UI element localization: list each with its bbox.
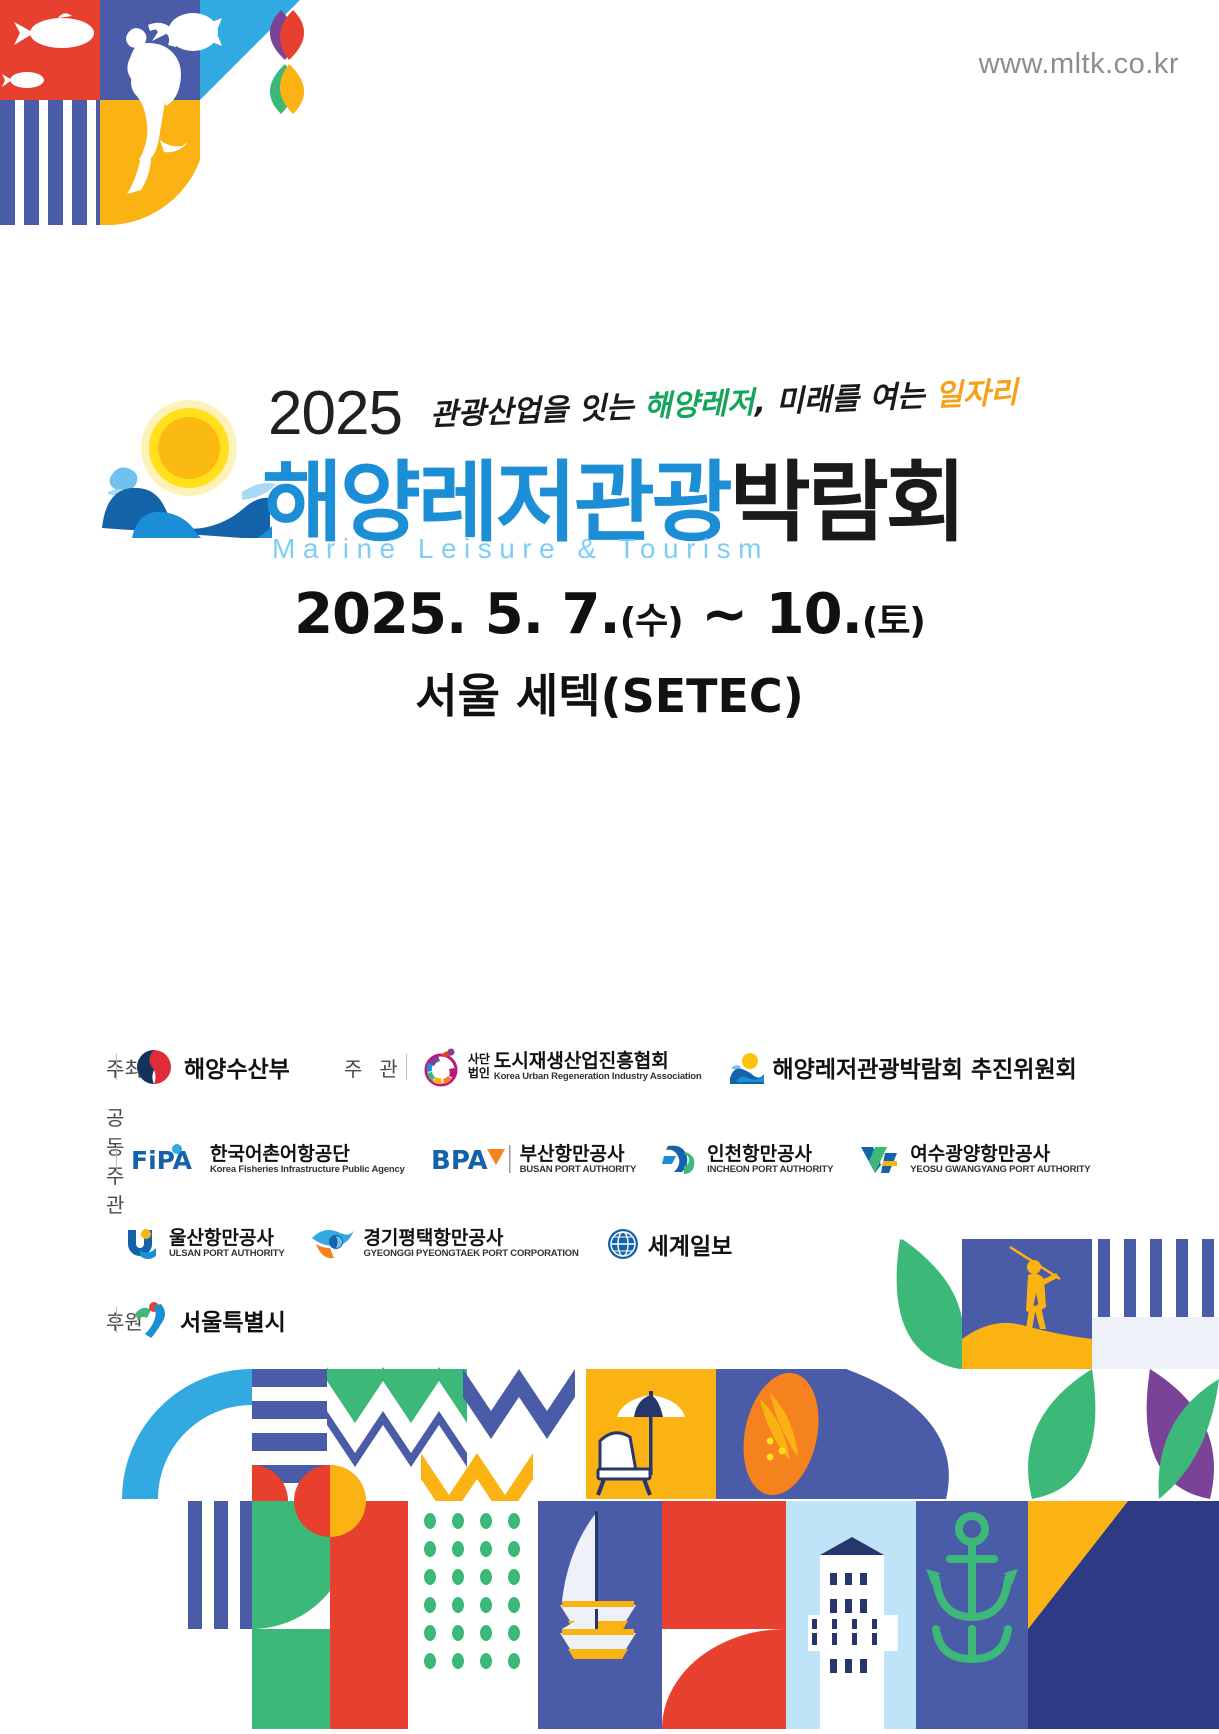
- ipa-icon: [662, 1142, 700, 1178]
- sun-wave-logo-icon: [92, 388, 282, 538]
- divider: [116, 1147, 117, 1173]
- org-name-en-ipa: INCHEON PORT AUTHORITY: [707, 1165, 833, 1175]
- date-dow-end: (토): [862, 601, 925, 642]
- org-item-bpa: BPA 부산항만공사 BUSAN PORT AUTHORITY: [431, 1143, 637, 1177]
- navy-zigzag-tile: [327, 1411, 467, 1467]
- org-item-mltk-committee: 해양레저관광박람회 추진위원회: [728, 1050, 1077, 1084]
- host-items: 해양수산부: [131, 1047, 290, 1087]
- date-dow-start: (수): [620, 601, 683, 642]
- navy-stripe-tile: [188, 1501, 254, 1629]
- org-item-ipa: 인천항만공사 INCHEON PORT AUTHORITY: [662, 1142, 833, 1178]
- tagline-part-1: 관광산업을 잇는: [429, 390, 644, 433]
- green-leaf-tile: [1028, 1369, 1095, 1499]
- org-name-en-ygpa: YEOSU GWANGYANG PORT AUTHORITY: [910, 1165, 1090, 1175]
- subtitle-english: Marine Leisure & Tourism: [272, 533, 769, 565]
- fipa-icon: FiPA: [131, 1142, 203, 1178]
- org-item-ygpa: 여수광양항만공사 YEOSU GWANGYANG PORT AUTHORITY: [859, 1143, 1090, 1177]
- org-name-mltk-committee: 해양레저관광박람회 추진위원회: [773, 1050, 1077, 1084]
- org-name-kuria: 도시재생산업진흥협회: [494, 1052, 702, 1072]
- title-block: 2025 관광산업을 잇는 해양레저, 미래를 여는 일자리 해양레저관광박람회…: [0, 370, 1219, 555]
- tagline: 관광산업을 잇는 해양레저, 미래를 여는 일자리: [429, 367, 1018, 434]
- mltk-sunwave-icon: [728, 1050, 766, 1084]
- org-name-fipa: 한국어촌어항공단: [210, 1145, 405, 1165]
- tagline-part-2: 해양레저: [643, 386, 755, 425]
- sky-arc-tile: [122, 1369, 252, 1499]
- logo-row: 2025 관광산업을 잇는 해양레저, 미래를 여는 일자리 해양레저관광박람회…: [0, 370, 1219, 555]
- korea-gov-taegeuk-icon: [131, 1047, 177, 1087]
- event-venue: 서울 세텍(SETEC): [0, 660, 1219, 726]
- svg-text:BPA: BPA: [431, 1146, 488, 1176]
- label-organizer-char1: 주: [344, 1053, 362, 1082]
- org-name-mof: 해양수산부: [184, 1050, 290, 1084]
- coorganizer-items: FiPA 한국어촌어항공단 Korea Fisheries Infrastruc…: [131, 1142, 1090, 1178]
- event-date: 2025. 5. 7.(수) ~ 10.(토): [0, 582, 1219, 647]
- organizer-items: 사단법인 도시재생산업진흥협회 Korea Urban Regeneration…: [421, 1046, 1077, 1088]
- label-organizer: 주 관: [290, 1053, 398, 1082]
- org-stack-ygpa: 여수광양항만공사 YEOSU GWANGYANG PORT AUTHORITY: [910, 1145, 1090, 1175]
- org-name-ipa: 인천항만공사: [707, 1145, 833, 1165]
- label-coorganizer: 공동주관: [0, 1102, 108, 1218]
- divider: [116, 1054, 117, 1080]
- date-end: 10.: [766, 582, 862, 647]
- org-stack-bpa: 부산항만공사 BUSAN PORT AUTHORITY: [520, 1145, 637, 1175]
- date-tilde: ~: [701, 582, 747, 647]
- navy-stripe-tile: [252, 1369, 327, 1483]
- tagline-part-4: 일자리: [934, 375, 1018, 413]
- org-stack-kuria: 도시재생산업진흥협회 Korea Urban Regeneration Indu…: [494, 1052, 702, 1082]
- label-host: 주 최: [0, 1053, 108, 1082]
- organizer-row-coorganizer: 공동주관 FiPA 한국어촌어항공단 Korea Fisheries Infra…: [0, 1102, 1219, 1218]
- divider: [406, 1054, 407, 1080]
- label-organizer-char2: 관: [379, 1053, 397, 1082]
- date-main: 2025. 5. 7.: [294, 582, 620, 647]
- org-stack-ipa: 인천항만공사 INCHEON PORT AUTHORITY: [707, 1145, 833, 1175]
- ygpa-icon: [859, 1143, 903, 1177]
- org-item-mof: 해양수산부: [131, 1047, 290, 1087]
- org-item-kuria: 사단법인 도시재생산업진흥협회 Korea Urban Regeneration…: [421, 1046, 702, 1088]
- kuria-bloom-icon: [421, 1046, 461, 1088]
- top-decoration-graphic: [0, 0, 340, 225]
- org-name-en-kuria: Korea Urban Regeneration Industry Associ…: [494, 1072, 702, 1082]
- svg-text:FiPA: FiPA: [131, 1146, 193, 1175]
- org-stack-fipa: 한국어촌어항공단 Korea Fisheries Infrastructure …: [210, 1145, 405, 1175]
- org-prefix-kuria: 사단법인: [468, 1053, 490, 1081]
- website-url[interactable]: www.mltk.co.kr: [979, 48, 1179, 81]
- bpa-icon: BPA: [431, 1143, 513, 1177]
- org-name-bpa: 부산항만공사: [520, 1145, 637, 1165]
- org-item-fipa: FiPA 한국어촌어항공단 Korea Fisheries Infrastruc…: [131, 1142, 405, 1178]
- org-name-en-fipa: Korea Fisheries Infrastructure Public Ag…: [210, 1165, 405, 1175]
- org-name-en-bpa: BUSAN PORT AUTHORITY: [520, 1165, 637, 1175]
- org-name-ygpa: 여수광양항만공사: [910, 1145, 1090, 1165]
- organizer-row-host: 주 최 해양수산부 주 관: [0, 1046, 1219, 1088]
- bottom-decoration-graphic: [0, 1229, 1219, 1729]
- tagline-part-3: , 미래를 여는: [754, 379, 936, 421]
